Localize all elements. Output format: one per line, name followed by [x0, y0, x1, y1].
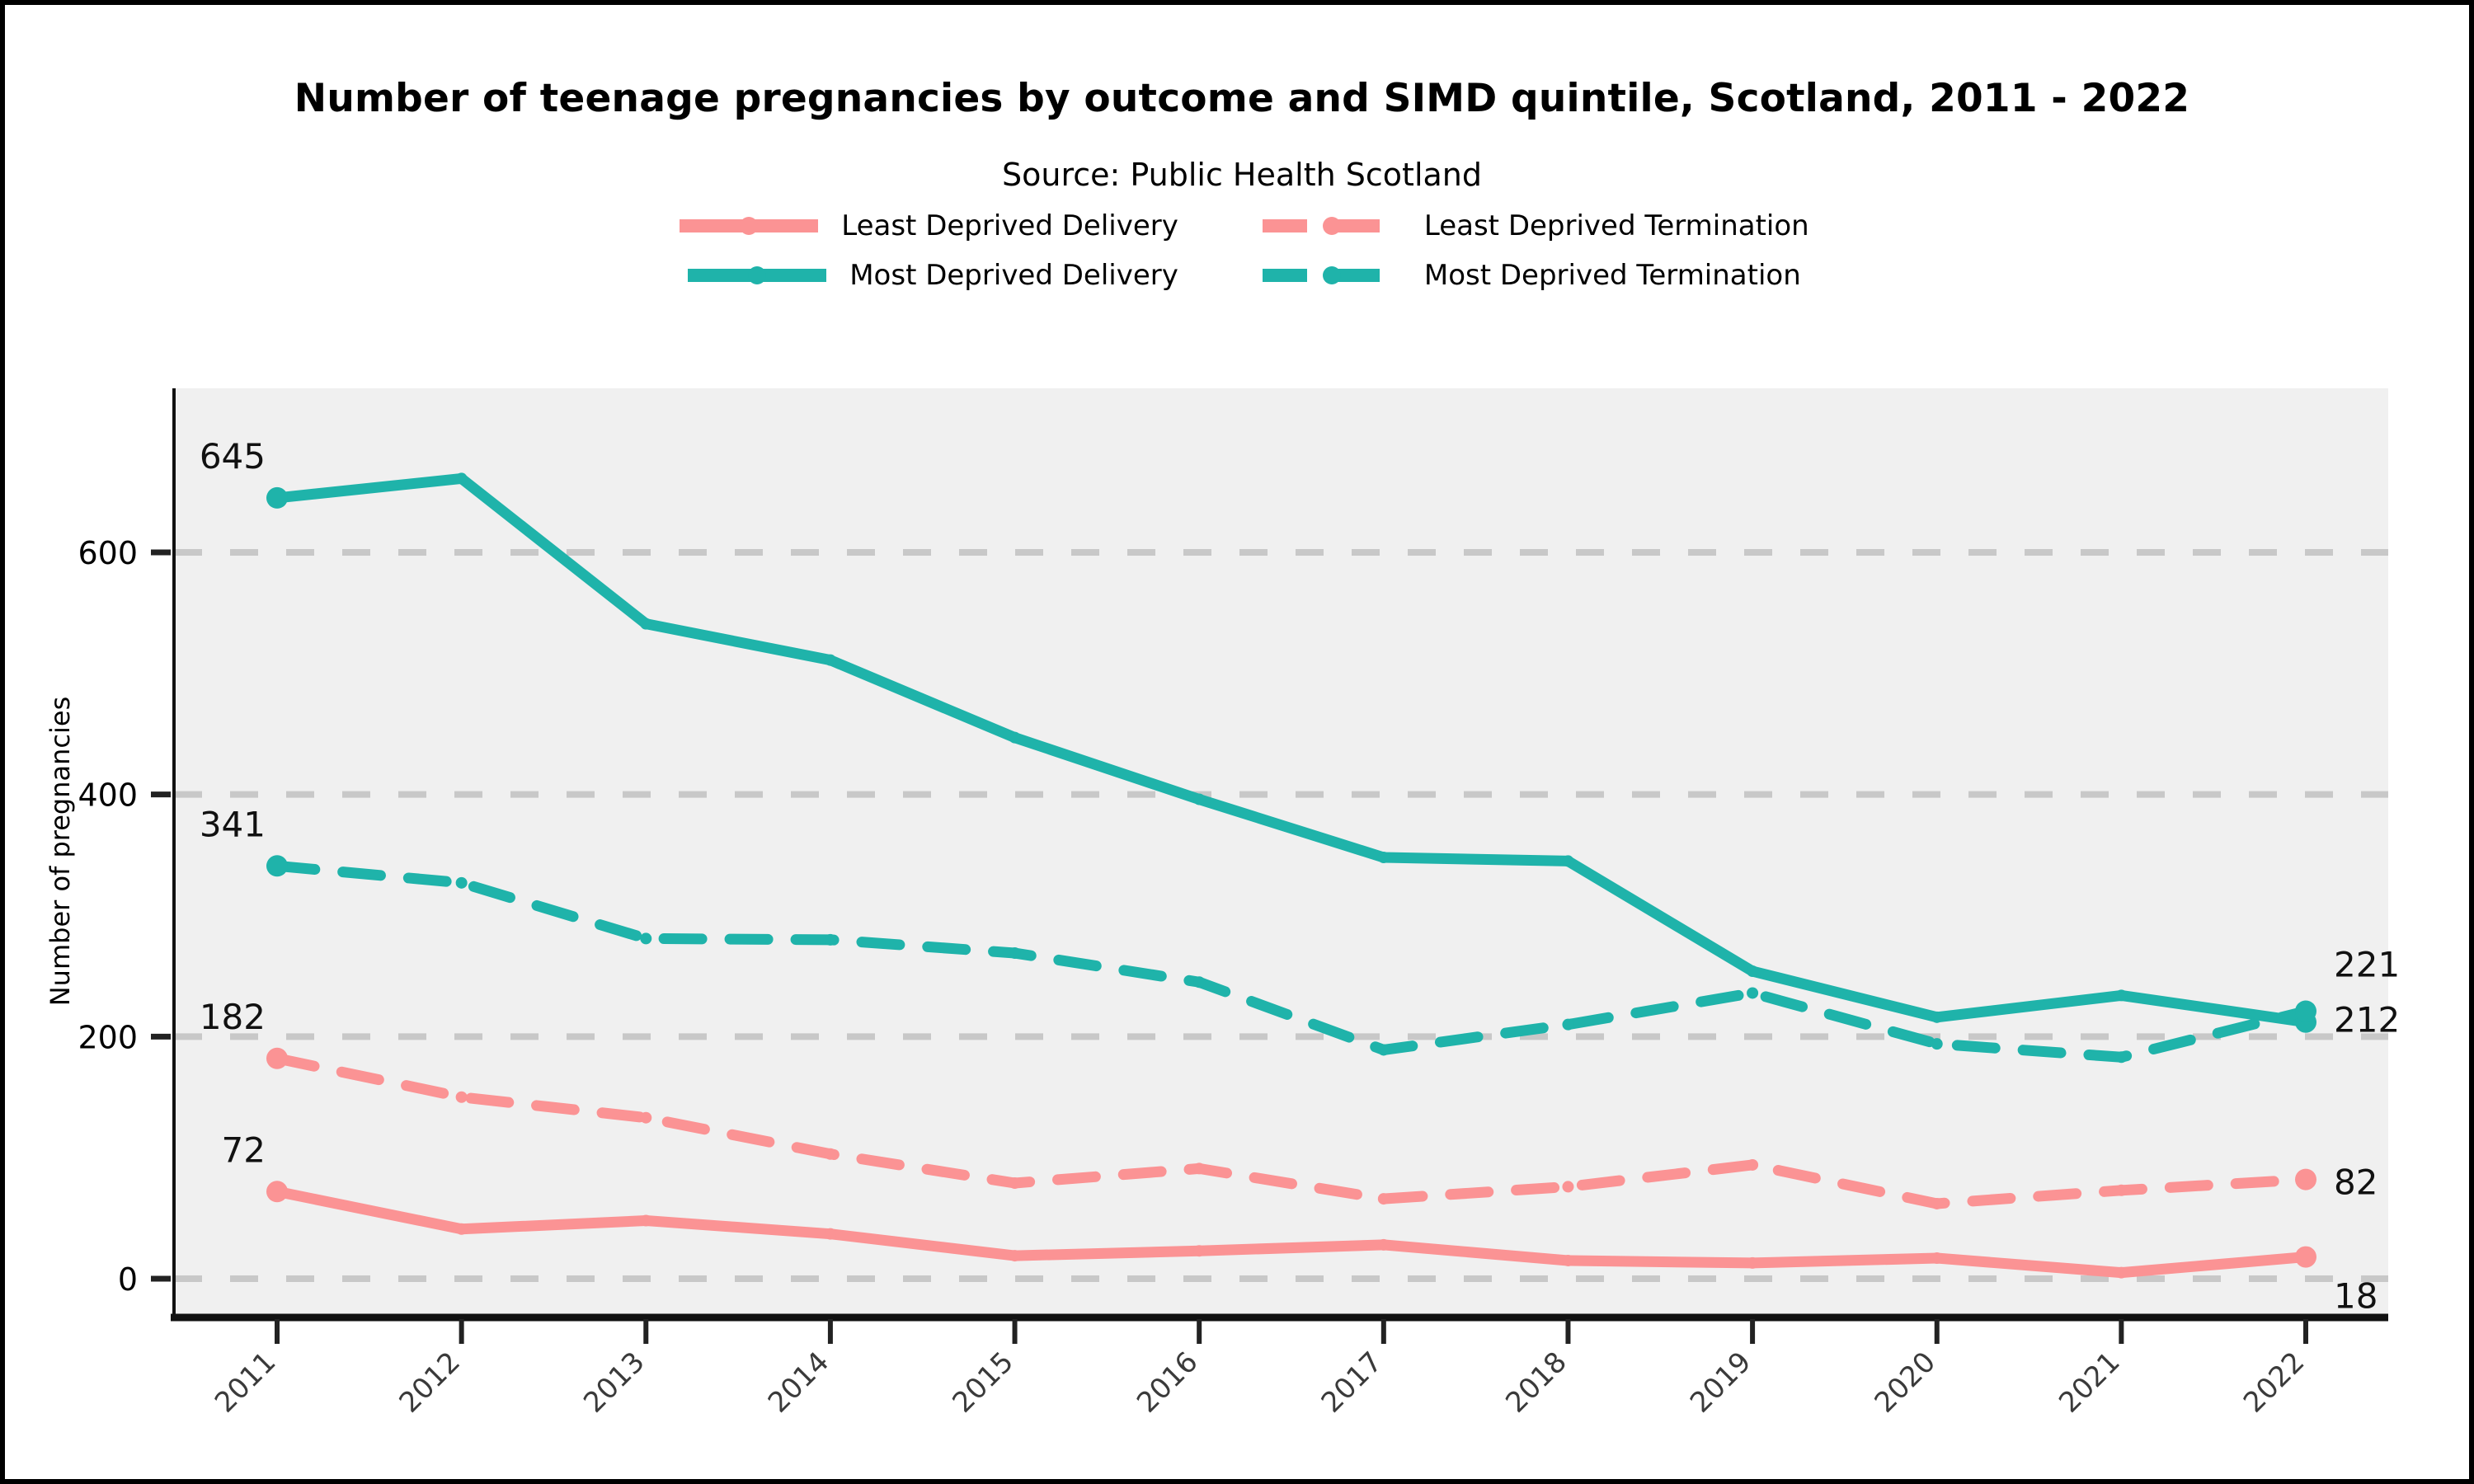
series-marker [1747, 965, 1758, 977]
series-marker [1009, 947, 1021, 959]
x-tick-label: 2013 [577, 1345, 651, 1419]
series-marker [825, 934, 836, 946]
data-point-label: 221 [2334, 944, 2400, 984]
series-end-marker [2295, 1247, 2316, 1268]
line-chart-svg: 0200400600Number of pregnancies201120122… [5, 5, 2474, 1484]
data-point-label: 212 [2334, 1000, 2400, 1040]
series-marker [1378, 1193, 1390, 1205]
series-marker [1562, 1019, 1573, 1031]
y-tick-label: 200 [78, 1019, 138, 1055]
series-marker [456, 472, 468, 484]
series-marker [1931, 1038, 1943, 1050]
data-point-label: 341 [200, 804, 266, 844]
y-tick-label: 400 [78, 777, 138, 814]
series-marker [1009, 732, 1021, 744]
y-tick-label: 0 [118, 1261, 138, 1298]
series-end-marker [2295, 1169, 2316, 1190]
plot-background [174, 388, 2388, 1314]
series-marker [1931, 1252, 1943, 1264]
series-marker [1562, 855, 1573, 866]
data-point-label: 82 [2334, 1162, 2378, 1203]
x-tick-label: 2016 [1131, 1345, 1204, 1419]
series-marker [640, 618, 651, 630]
series-marker [640, 932, 651, 944]
series-marker [1562, 1181, 1573, 1192]
series-marker [2115, 1185, 2127, 1196]
x-tick-label: 2017 [1315, 1345, 1389, 1419]
series-marker [1931, 1012, 1943, 1023]
data-point-label: 182 [200, 997, 266, 1037]
x-tick-label: 2012 [393, 1345, 467, 1419]
series-marker [2115, 1051, 2127, 1063]
x-tick-label: 2022 [2237, 1345, 2311, 1419]
data-point-label: 645 [200, 436, 266, 477]
series-marker [1747, 1257, 1758, 1269]
series-marker [1193, 1162, 1205, 1174]
data-point-label: 18 [2334, 1276, 2378, 1317]
x-tick-label: 2015 [946, 1345, 1019, 1419]
series-marker [640, 1215, 651, 1227]
x-tick-label: 2021 [2053, 1345, 2126, 1419]
series-marker [1378, 1239, 1390, 1251]
series-marker [1193, 976, 1205, 988]
x-tick-label: 2014 [762, 1345, 835, 1419]
series-marker [825, 655, 836, 666]
series-marker [2115, 989, 2127, 1001]
series-marker [1193, 1245, 1205, 1256]
series-marker [825, 1228, 836, 1240]
series-marker [1562, 1255, 1573, 1266]
series-marker [1378, 1044, 1390, 1055]
data-point-label: 72 [222, 1129, 266, 1170]
series-marker [1009, 1250, 1021, 1261]
series-start-marker [266, 1181, 288, 1202]
series-marker [1378, 852, 1390, 863]
series-marker [456, 1223, 468, 1235]
series-marker [1193, 794, 1205, 805]
chart-page: Number of teenage pregnancies by outcome… [0, 0, 2474, 1484]
series-marker [640, 1112, 651, 1124]
series-start-marker [266, 1048, 288, 1069]
y-axis-title: Number of pregnancies [45, 697, 76, 1007]
series-marker [2115, 1267, 2127, 1279]
series-marker [456, 1092, 468, 1103]
series-start-marker [266, 487, 288, 509]
x-tick-label: 2011 [209, 1345, 282, 1419]
series-marker [1747, 987, 1758, 998]
series-marker [1931, 1198, 1943, 1209]
x-tick-label: 2019 [1684, 1345, 1757, 1419]
plot-area-container: 0200400600Number of pregnancies201120122… [5, 5, 2474, 1484]
series-marker [1009, 1177, 1021, 1189]
series-marker [825, 1148, 836, 1160]
series-end-marker [2295, 1000, 2316, 1021]
y-tick-label: 600 [78, 535, 138, 571]
series-start-marker [266, 855, 288, 876]
x-tick-label: 2020 [1869, 1345, 1942, 1419]
series-marker [1747, 1159, 1758, 1171]
series-marker [456, 877, 468, 889]
x-tick-label: 2018 [1499, 1345, 1573, 1419]
